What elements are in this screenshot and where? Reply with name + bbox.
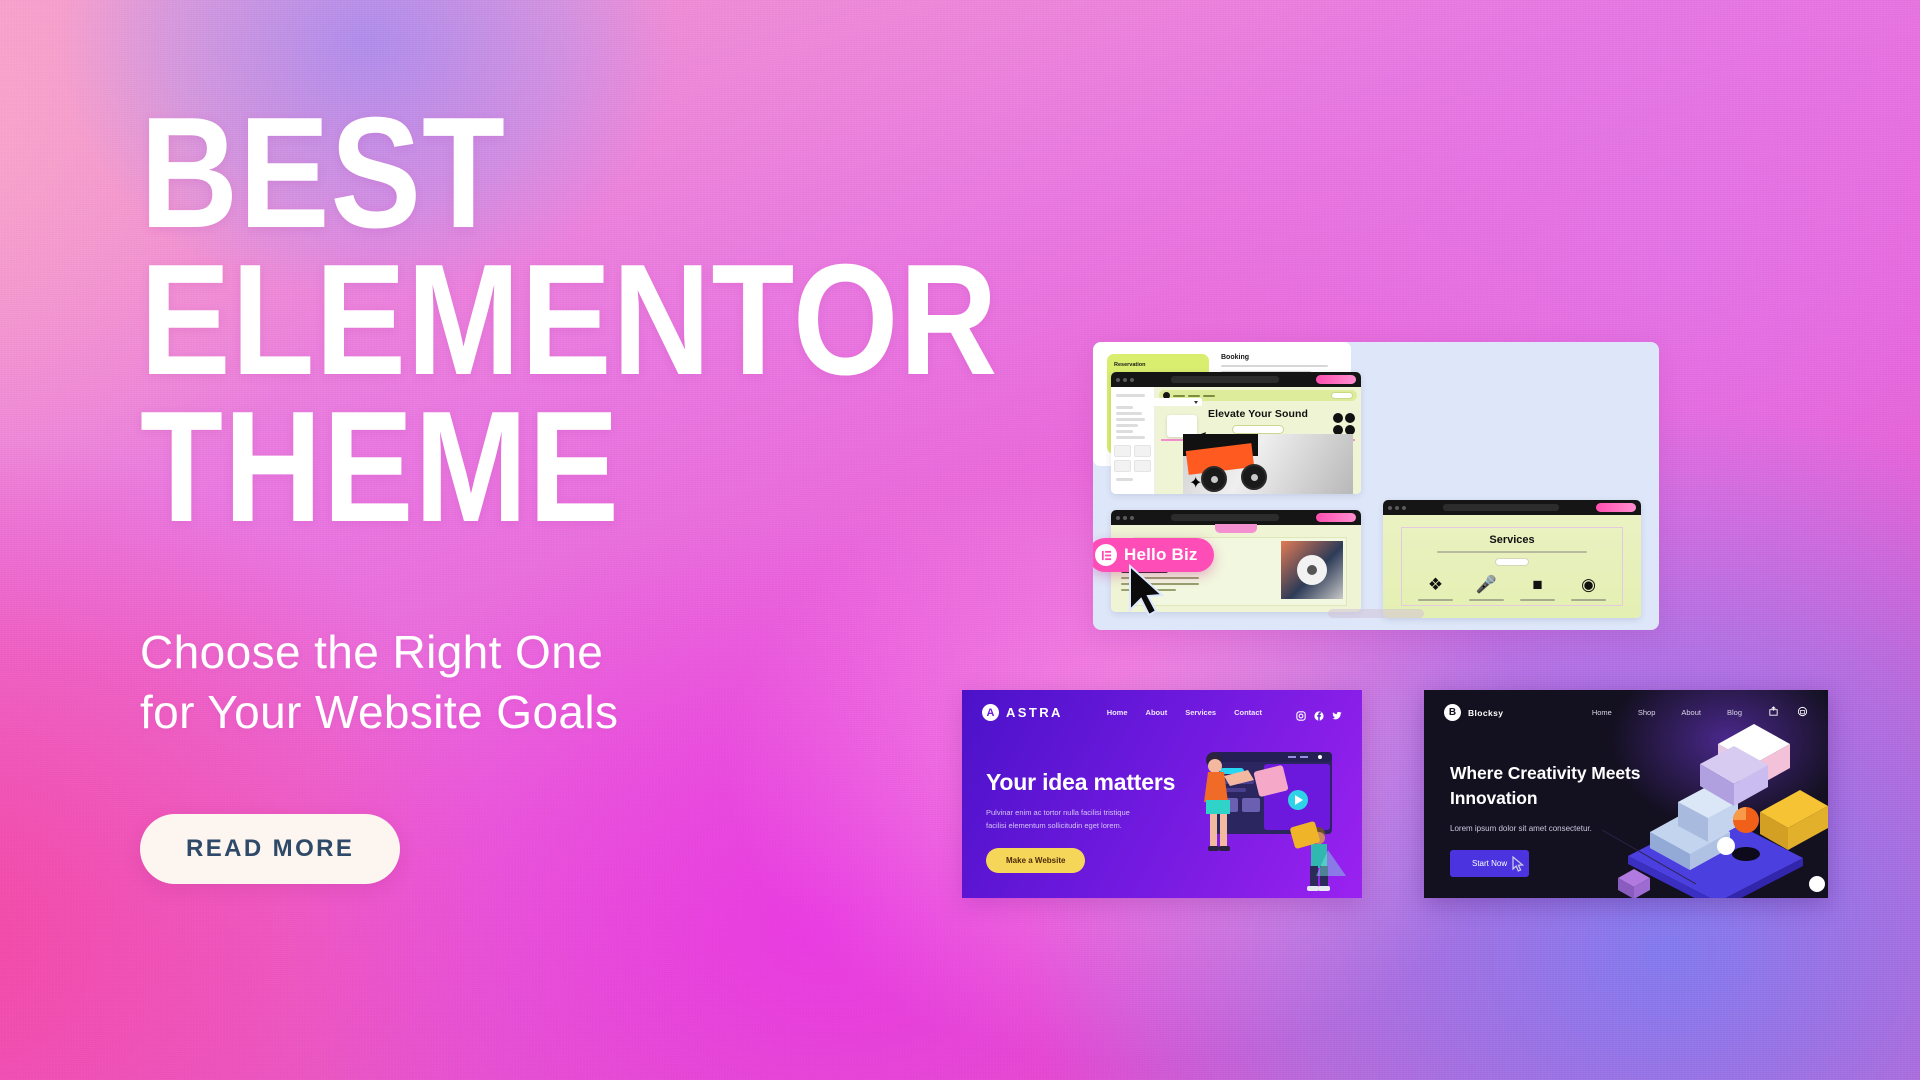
- facebook-icon[interactable]: [1314, 708, 1324, 718]
- blocksy-paragraph: Lorem ipsum dolor sit amet consectetur.: [1450, 824, 1664, 833]
- sidebar-row: [1116, 430, 1133, 433]
- astra-logo-mark: A: [982, 704, 999, 721]
- mouse-cursor-icon: [1512, 856, 1525, 876]
- browser-dot-icon: [1395, 506, 1399, 510]
- mouse-cursor-icon: [1127, 564, 1167, 618]
- services-title: Services: [1410, 534, 1614, 546]
- browser-dot-icon: [1130, 516, 1134, 520]
- sidebar-row: [1116, 394, 1145, 397]
- elementor-icon: [1095, 544, 1117, 566]
- mockup-music-site[interactable]: Elevate Your Sound ✦: [1111, 372, 1361, 494]
- browser-dot-icon: [1402, 506, 1406, 510]
- editor-preview-panel: Elevate Your Sound ✦: [1093, 342, 1659, 630]
- blocksy-brand-name: Blocksy: [1468, 708, 1503, 718]
- blocksy-nav-shop[interactable]: Shop: [1638, 708, 1656, 717]
- astra-nav-services[interactable]: Services: [1185, 708, 1216, 717]
- instagram-icon[interactable]: [1296, 708, 1306, 718]
- mockup-browser-bar: [1383, 500, 1641, 515]
- blocksy-nav-about[interactable]: About: [1681, 708, 1701, 717]
- astra-headline: Your idea matters: [986, 769, 1202, 796]
- sidebar-row: [1116, 412, 1142, 415]
- browser-dot-icon: [1388, 506, 1392, 510]
- widget-tile[interactable]: [1114, 445, 1131, 457]
- cart-icon[interactable]: [1797, 706, 1808, 720]
- blocksy-logo-mark: B: [1444, 704, 1461, 721]
- browser-dot-icon: [1130, 378, 1134, 382]
- widget-tile[interactable]: [1114, 460, 1131, 472]
- astra-nav-about[interactable]: About: [1146, 708, 1168, 717]
- sidebar-widget-grid: [1114, 445, 1151, 472]
- service-label-line: [1571, 599, 1605, 601]
- panel-bottom-bar: [1328, 609, 1424, 618]
- booking-line: [1221, 365, 1328, 367]
- sidebar-row: [1116, 436, 1145, 439]
- booking-title: Booking: [1221, 354, 1337, 361]
- page-title: BEST ELEMENTOR THEME: [140, 100, 1034, 541]
- blocksy-theme-card[interactable]: B Blocksy Home Shop About Blog Where Cre…: [1424, 690, 1828, 898]
- service-label-line: [1418, 599, 1452, 601]
- reservation-form-title: Reservation: [1114, 362, 1202, 368]
- section-tab-pill: [1215, 524, 1257, 533]
- date-select[interactable]: [1114, 398, 1202, 406]
- blocksy-nav-home[interactable]: Home: [1592, 708, 1612, 717]
- site-cta-button[interactable]: [1331, 392, 1353, 399]
- publish-button[interactable]: [1316, 375, 1356, 384]
- read-more-button[interactable]: READ MORE: [140, 814, 400, 884]
- browser-dot-icon: [1123, 516, 1127, 520]
- widget-tile[interactable]: [1134, 445, 1151, 457]
- twitter-icon[interactable]: [1332, 708, 1342, 718]
- mockup-services-site[interactable]: Services ❖ 🎤 ■: [1383, 500, 1641, 618]
- vinyl-disc-icon: [1297, 555, 1327, 585]
- site-nav-item[interactable]: [1203, 395, 1215, 397]
- astra-brand-name: ASTRA: [1006, 705, 1063, 720]
- blocksy-navbar: B Blocksy Home Shop About Blog: [1424, 690, 1828, 735]
- mockup-hero-button[interactable]: [1232, 425, 1284, 434]
- sparkle-icon: ✦: [1189, 476, 1205, 492]
- service-item[interactable]: ■: [1515, 575, 1561, 601]
- site-nav-item[interactable]: [1173, 395, 1185, 397]
- astra-paragraph: Pulvinar enim ac tortor nulla facilisi t…: [986, 806, 1136, 832]
- service-item[interactable]: ◉: [1566, 575, 1612, 601]
- browser-url-bar[interactable]: [1171, 514, 1279, 521]
- site-nav-item[interactable]: [1188, 395, 1200, 397]
- vinyl-disc-icon: [1241, 464, 1267, 490]
- mockup-canvas: Services ❖ 🎤 ■: [1383, 515, 1641, 618]
- sidebar-row: [1116, 406, 1133, 409]
- browser-url-bar[interactable]: [1171, 376, 1279, 383]
- services-subtitle-line: [1437, 551, 1588, 553]
- hello-biz-label: Hello Biz: [1124, 545, 1198, 565]
- flower-grid-icon: [1333, 413, 1355, 435]
- make-a-website-button[interactable]: Make a Website: [986, 848, 1085, 873]
- astra-navbar: A ASTRA Home About Services Contact: [962, 690, 1362, 735]
- astra-logo[interactable]: A ASTRA: [982, 704, 1063, 721]
- service-item[interactable]: ❖: [1413, 575, 1459, 601]
- service-item[interactable]: 🎤: [1464, 575, 1510, 601]
- service-label-line: [1469, 599, 1503, 601]
- sidebar-row: [1116, 478, 1133, 481]
- blocksy-logo[interactable]: B Blocksy: [1444, 704, 1503, 721]
- sidebar-row: [1116, 424, 1138, 427]
- browser-dot-icon: [1123, 378, 1127, 382]
- sidebar-row: [1116, 418, 1145, 421]
- flower-grid-icon: ❖: [1413, 575, 1459, 595]
- squares-icon: ■: [1515, 575, 1561, 595]
- astra-theme-card[interactable]: A ASTRA Home About Services Contact Your…: [962, 690, 1362, 898]
- share-icon[interactable]: [1768, 706, 1779, 720]
- service-label-line: [1520, 599, 1554, 601]
- microphone-icon: 🎤: [1464, 575, 1510, 595]
- mockup-hero-photo: ✦: [1183, 434, 1353, 494]
- browser-dot-icon: [1116, 378, 1120, 382]
- astra-nav-home[interactable]: Home: [1107, 708, 1128, 717]
- browser-url-bar[interactable]: [1443, 504, 1559, 511]
- astra-nav-contact[interactable]: Contact: [1234, 708, 1262, 717]
- services-button[interactable]: [1495, 558, 1529, 566]
- blocksy-headline: Where Creativity Meets Innovation: [1450, 761, 1664, 811]
- mockup-browser-bar: [1111, 510, 1361, 525]
- browser-dot-icon: [1116, 516, 1120, 520]
- mockup-browser-bar: [1111, 372, 1361, 387]
- publish-button[interactable]: [1596, 503, 1636, 512]
- vinyl-disc-icon: ◉: [1566, 575, 1612, 595]
- services-frame: Services ❖ 🎤 ■: [1401, 527, 1623, 606]
- publish-button[interactable]: [1316, 513, 1356, 522]
- blocksy-nav-blog[interactable]: Blog: [1727, 708, 1742, 717]
- studio-photo: [1281, 541, 1343, 599]
- widget-tile[interactable]: [1134, 460, 1151, 472]
